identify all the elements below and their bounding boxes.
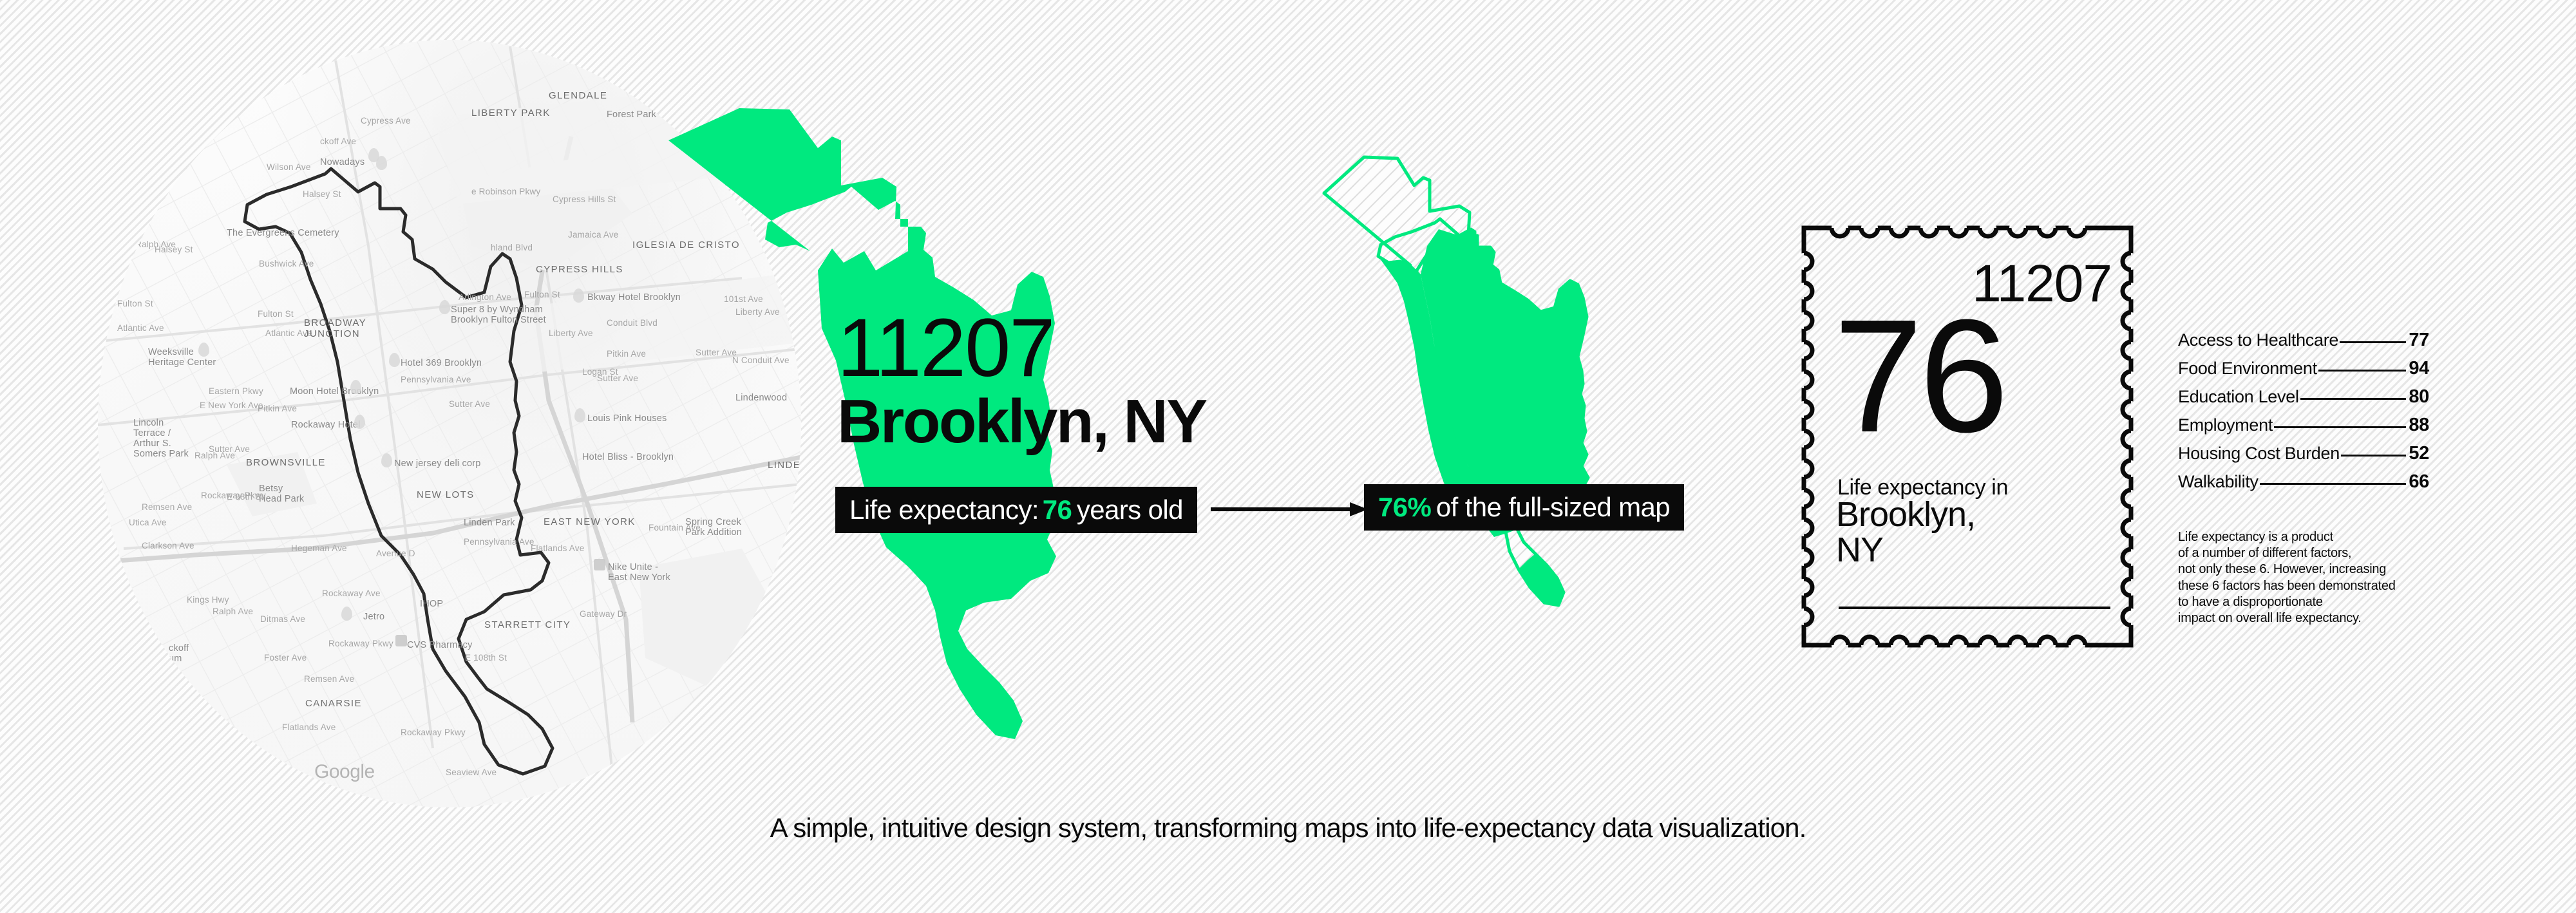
map-label: Linden Park (464, 518, 515, 528)
map-label: Seaview Ave (446, 767, 497, 777)
factor-leader-line (2340, 341, 2406, 343)
map-label: Clarkson Ave (142, 541, 194, 551)
factor-row: Employment88 (2178, 415, 2429, 436)
google-watermark: Google (314, 761, 375, 783)
map-label: NEW LOTS (417, 489, 475, 500)
factor-row: Access to Healthcare77 (2178, 330, 2429, 351)
hero-title-block: 11207 Brooklyn, NY (837, 309, 1206, 453)
map-label: ckoff um (169, 644, 189, 664)
map-label: Rockaway Ave (322, 588, 381, 598)
factor-value: 66 (2409, 471, 2429, 493)
map-label: Utica Ave (129, 518, 167, 527)
map-label: Foster Ave (264, 653, 307, 663)
arrow-right-icon (1211, 500, 1372, 519)
map-label: Cypress Ave (361, 116, 411, 126)
map-label: Liberty Ave (549, 328, 593, 338)
badge-pct-suffix: of the full-sized map (1436, 492, 1670, 523)
stamp-card: 11207 76 Life expectancy in Brooklyn, NY (1800, 224, 2135, 649)
factor-row: Housing Cost Burden52 (2178, 443, 2429, 464)
badge-life-suffix: years old (1077, 494, 1183, 525)
map-label: Jetro (363, 612, 384, 622)
poi-marker (389, 353, 400, 367)
map-label: Fulton St (258, 309, 294, 319)
hero-subtitle: Brooklyn, NY (837, 390, 1206, 453)
map-label: e Robinson Pkwy (471, 187, 540, 196)
map-label: Halsey St (303, 189, 341, 199)
factor-row: Food Environment94 (2178, 358, 2429, 379)
map-label: Remsen Ave (304, 674, 354, 684)
map-label: BROWNSVILLE (246, 457, 326, 468)
factor-label: Employment (2178, 415, 2273, 435)
map-label: Ralph Ave (213, 607, 253, 616)
map-label: Eastern Pkwy (209, 386, 263, 396)
factor-list: Access to Healthcare77Food Environment94… (2178, 330, 2429, 500)
poi-marker (395, 635, 407, 646)
factor-value: 52 (2409, 443, 2429, 464)
map-label: Rockaway Pkwy (401, 728, 466, 737)
life-expectancy-badge[interactable]: Life expectancy: 76 years old (835, 487, 1197, 533)
factor-value: 80 (2409, 386, 2429, 408)
poi-marker (376, 156, 387, 170)
factor-leader-line (2318, 370, 2407, 372)
stamp-rule (1839, 607, 2110, 609)
map-label: Arlington Ave (459, 292, 511, 302)
factor-leader-line (2274, 426, 2406, 428)
factor-note: Life expectancy is a product of a number… (2178, 529, 2436, 626)
poi-marker (381, 453, 392, 467)
map-label: The Evergreens Cemetery (227, 228, 339, 238)
factor-leader-line (2300, 398, 2407, 400)
map-label: BROADWAY JUNCTION (304, 318, 366, 339)
map-label: Pennsylvania Ave (464, 537, 535, 547)
map-label: STARRETT CITY (484, 619, 571, 630)
map-label: LIBERTY PARK (471, 108, 551, 118)
factor-value: 77 (2409, 330, 2429, 351)
factor-value: 88 (2409, 415, 2429, 436)
factor-label: Walkability (2178, 472, 2259, 492)
poi-marker (350, 380, 361, 394)
poi-marker (198, 343, 209, 357)
map-label: Lincoln Terrace / Arthur S. Somers Park (133, 419, 189, 460)
zip-shape-outline (1301, 148, 1700, 792)
map-label: Rockaway Hotel (291, 420, 361, 430)
stamp-city: Brooklyn, NY (1836, 497, 1975, 568)
factor-label: Housing Cost Burden (2178, 444, 2340, 464)
map-label: Hotel 369 Brooklyn (401, 358, 482, 368)
factor-leader-line (2260, 483, 2407, 485)
page-caption: A simple, intuitive design system, trans… (0, 813, 2576, 843)
map-label: Fulton St (117, 299, 153, 308)
stamp-life-expectancy-value: 76 (1833, 308, 2005, 445)
map-label: E 108th St (465, 653, 507, 663)
map-label: Atlantic Ave (117, 323, 164, 333)
poi-marker (439, 300, 450, 314)
factor-row: Education Level80 (2178, 386, 2429, 408)
map-label: Flatlands Ave (282, 722, 336, 732)
map-label: Hegeman Ave (291, 543, 347, 553)
map-label: Bushwick Ave (259, 259, 314, 268)
map-label: Ditmas Ave (260, 614, 305, 624)
map-label: CANARSIE (305, 698, 362, 709)
poi-marker (573, 288, 584, 303)
map-label: Fulton St (524, 290, 560, 299)
map-label: hland Blvd (491, 243, 533, 252)
poi-marker (574, 408, 585, 422)
map-label: Wilson Ave (267, 162, 311, 172)
map-label: Moon Hotel Brooklyn (290, 386, 379, 397)
factor-label: Food Environment (2178, 359, 2317, 379)
factor-label: Education Level (2178, 387, 2299, 407)
map-label: GLENDALE (549, 90, 607, 101)
factor-value: 94 (2409, 358, 2429, 379)
poi-marker (354, 415, 365, 429)
map-label: Super 8 by Wyndham Brooklyn Fulton Stree… (451, 305, 546, 326)
map-label: IHOP (420, 599, 443, 609)
map-label: Flatlands Ave (531, 543, 584, 553)
badge-life-value: 76 (1043, 494, 1072, 525)
poster-canvas: GLENDALELIBERTY PARKForest Park Golf Cou… (0, 0, 2576, 913)
badge-pct-value: 76% (1378, 492, 1431, 523)
poi-marker (341, 607, 352, 621)
map-label: ISH (112, 623, 131, 634)
map-label: E New York Ave (200, 400, 263, 410)
poi-marker (594, 559, 605, 570)
map-label: Remsen Ave (142, 502, 192, 512)
map-label: Nowadays (320, 157, 365, 167)
map-label: Kings Hwy (187, 595, 229, 605)
map-label: Ralph Ave (194, 451, 235, 460)
percent-badge[interactable]: 76% of the full-sized map (1364, 484, 1684, 531)
map-label: Avenue D (376, 549, 415, 558)
map-label: Sutter Ave (449, 399, 490, 409)
factor-label: Access to Healthcare (2178, 330, 2338, 350)
badge-life-prefix: Life expectancy: (849, 494, 1039, 525)
factor-row: Walkability66 (2178, 471, 2429, 493)
map-label: Rockaway Pkwy (328, 639, 393, 648)
map-label: E 98th St (227, 492, 263, 502)
map-label: ckoff Ave (320, 136, 356, 146)
map-label: Pennsylvania Ave (401, 375, 471, 384)
map-label: Pitkin Ave (258, 404, 297, 413)
factor-leader-line (2341, 455, 2406, 456)
map-label: New jersey deli corp (394, 458, 481, 469)
map-label: Ralph Ave (135, 240, 176, 249)
page-title: 11207 (837, 309, 1206, 388)
map-label: CVS Pharmacy (407, 640, 473, 650)
